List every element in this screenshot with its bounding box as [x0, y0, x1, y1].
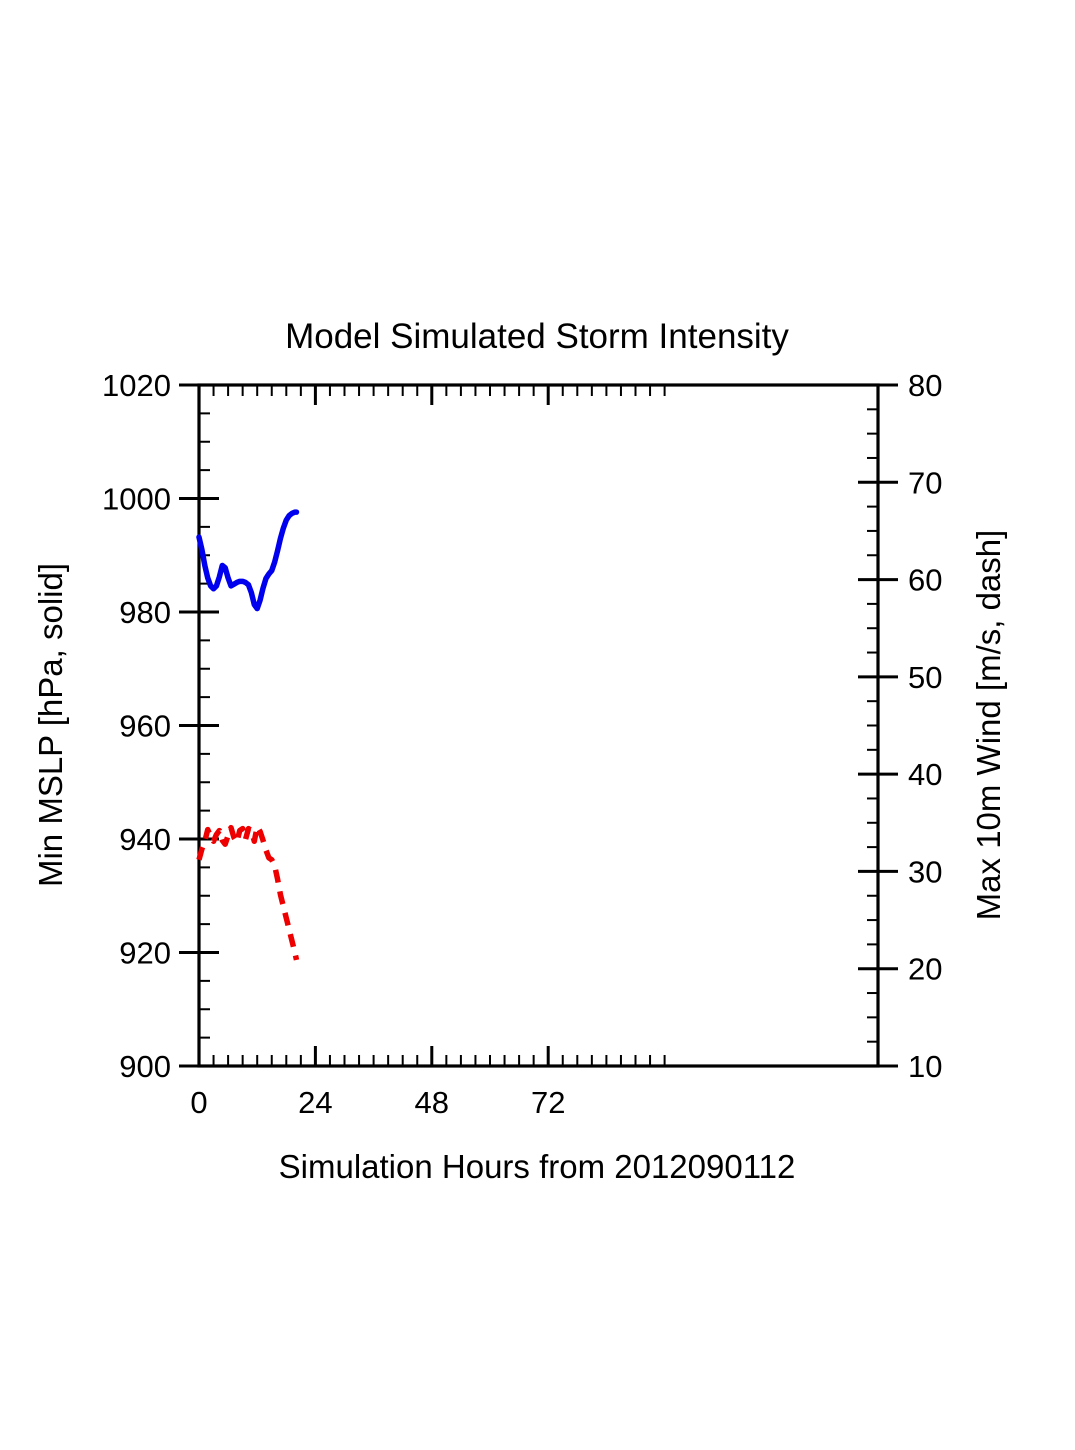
- y-tick-label: 1020: [102, 368, 171, 403]
- y-tick-label: 980: [119, 595, 171, 630]
- x-tick-label: 48: [415, 1085, 449, 1120]
- y2-tick-label: 30: [908, 854, 942, 889]
- y-axis-title-left: Min MSLP [hPa, solid]: [32, 563, 69, 887]
- chart-figure: Model Simulated Storm Intensity 02448729…: [0, 0, 1075, 1450]
- y2-tick-label: 80: [908, 368, 942, 403]
- y-tick-label: 960: [119, 709, 171, 744]
- y2-tick-label: 70: [908, 465, 942, 500]
- y-axis-title-right: Max 10m Wind [m/s, dash]: [970, 530, 1007, 921]
- y2-tick-label: 10: [908, 1049, 942, 1084]
- storm-intensity-chart: Model Simulated Storm Intensity 02448729…: [0, 0, 1075, 1450]
- y2-tick-label: 50: [908, 660, 942, 695]
- y2-tick-label: 60: [908, 563, 942, 598]
- chart-title: Model Simulated Storm Intensity: [285, 317, 789, 356]
- y-tick-label: 940: [119, 822, 171, 857]
- y-tick-label: 1000: [102, 482, 171, 517]
- y2-tick-label: 40: [908, 757, 942, 792]
- x-tick-label: 72: [531, 1085, 565, 1120]
- y2-tick-label: 20: [908, 952, 942, 987]
- x-tick-label: 24: [298, 1085, 332, 1120]
- y-tick-label: 920: [119, 936, 171, 971]
- x-axis-title: Simulation Hours from 2012090112: [279, 1148, 796, 1185]
- y-tick-label: 900: [119, 1049, 171, 1084]
- x-tick-label: 0: [190, 1085, 207, 1120]
